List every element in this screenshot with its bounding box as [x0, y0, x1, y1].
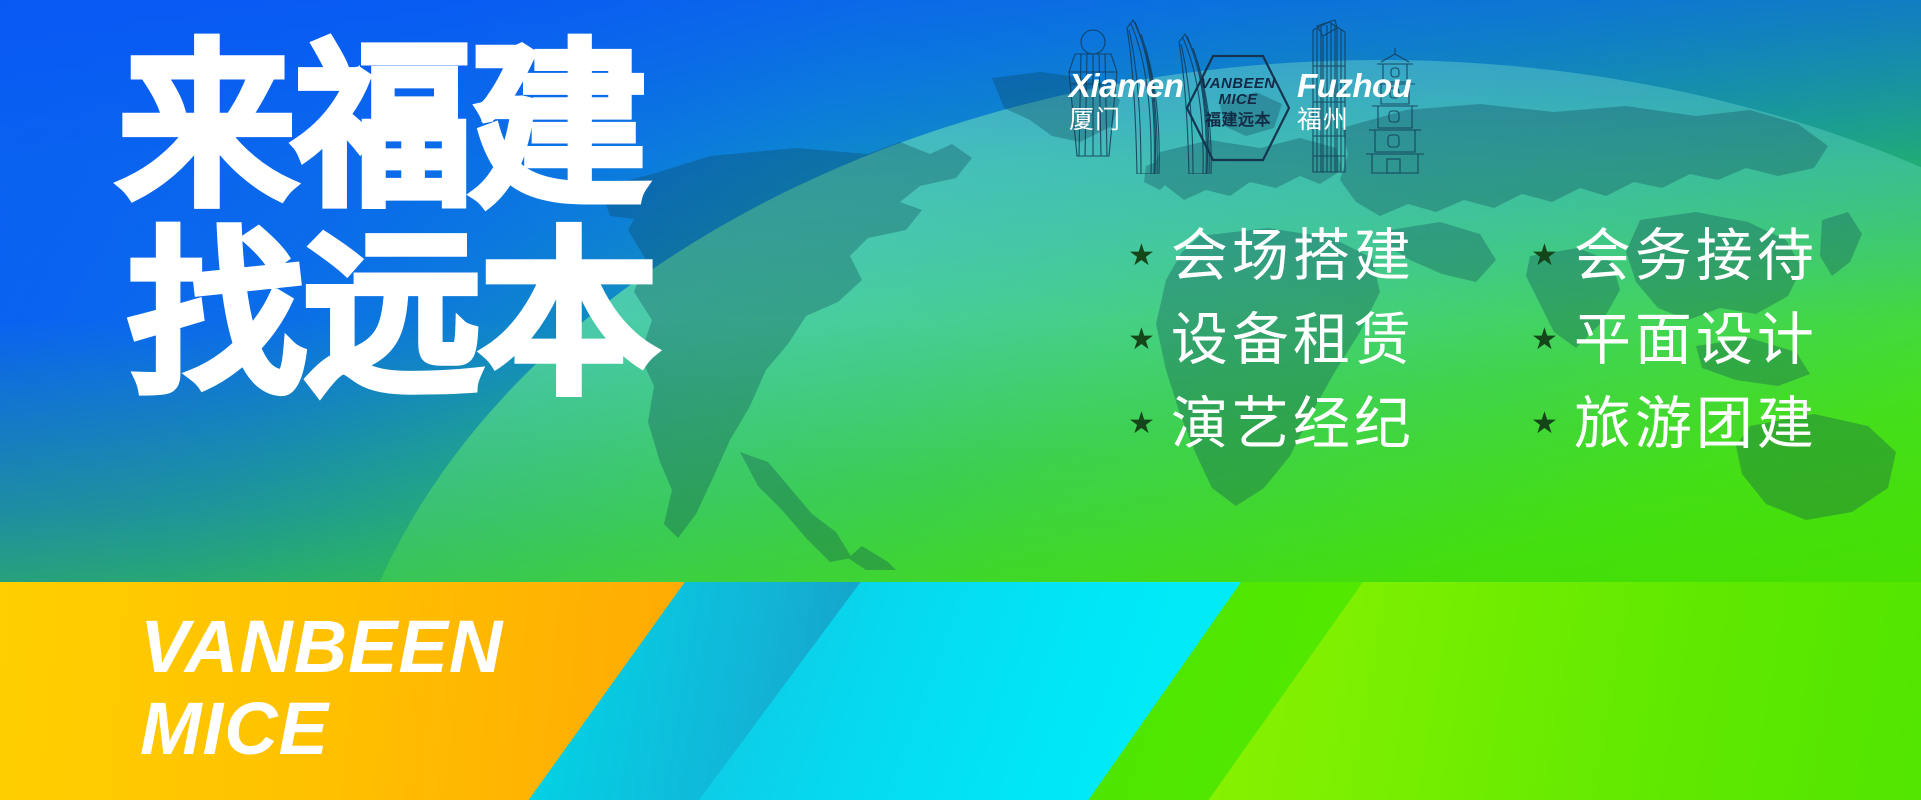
- service-label: 演艺经纪: [1171, 393, 1415, 455]
- service-label: 设备租赁: [1171, 309, 1415, 371]
- city-mark-fuzhou: Fuzhou 福州: [1283, 6, 1483, 174]
- city-name-en: Fuzhou: [1297, 68, 1483, 104]
- brand-line-1: VANBEEN: [140, 606, 503, 688]
- vanbeen-hexagon-logo: VANBEEN MICE 福建远本: [1183, 52, 1293, 164]
- star-icon: ★: [1531, 409, 1558, 439]
- promotional-banner: 来福建 找远本: [0, 0, 1921, 800]
- star-icon: ★: [1531, 325, 1558, 355]
- service-item: ★ 会场搭建: [1128, 218, 1503, 294]
- service-label: 会场搭建: [1171, 225, 1415, 287]
- service-item: ★ 设备租赁: [1128, 302, 1503, 378]
- star-icon: ★: [1128, 325, 1155, 355]
- city-name-cn: 福州: [1297, 105, 1483, 135]
- star-icon: ★: [1531, 241, 1558, 271]
- star-icon: ★: [1128, 241, 1155, 271]
- service-item: ★ 平面设计: [1531, 302, 1906, 378]
- city-label-fuzhou: Fuzhou 福州: [1297, 68, 1483, 135]
- logo-line-3: 福建远本: [1183, 110, 1293, 131]
- service-label: 平面设计: [1574, 309, 1818, 371]
- service-label: 会务接待: [1574, 225, 1818, 287]
- service-item: ★ 旅游团建: [1531, 386, 1906, 462]
- logo-line-2: MICE: [1183, 92, 1293, 108]
- hexagon-logo-text: VANBEEN MICE 福建远本: [1183, 76, 1293, 131]
- brand-wordmark: VANBEEN MICE: [140, 606, 503, 770]
- star-icon: ★: [1128, 409, 1155, 439]
- service-item: ★ 会务接待: [1531, 218, 1906, 294]
- headline: 来福建 找远本: [118, 34, 738, 410]
- services-list: ★ 会场搭建 ★ 会务接待 ★ 设备租赁 ★ 平面设计 ★ 演艺经纪 ★ 旅游团…: [1128, 218, 1908, 462]
- headline-line-2: 找远本: [128, 222, 738, 410]
- brand-line-2: MICE: [140, 688, 503, 770]
- headline-line-1: 来福建: [118, 34, 738, 222]
- logo-line-1: VANBEEN: [1183, 76, 1293, 92]
- banner-main-area: 来福建 找远本: [0, 0, 1921, 582]
- bottom-brand-bar: VANBEEN MICE: [0, 582, 1921, 800]
- service-label: 旅游团建: [1574, 393, 1818, 455]
- service-item: ★ 演艺经纪: [1128, 386, 1503, 462]
